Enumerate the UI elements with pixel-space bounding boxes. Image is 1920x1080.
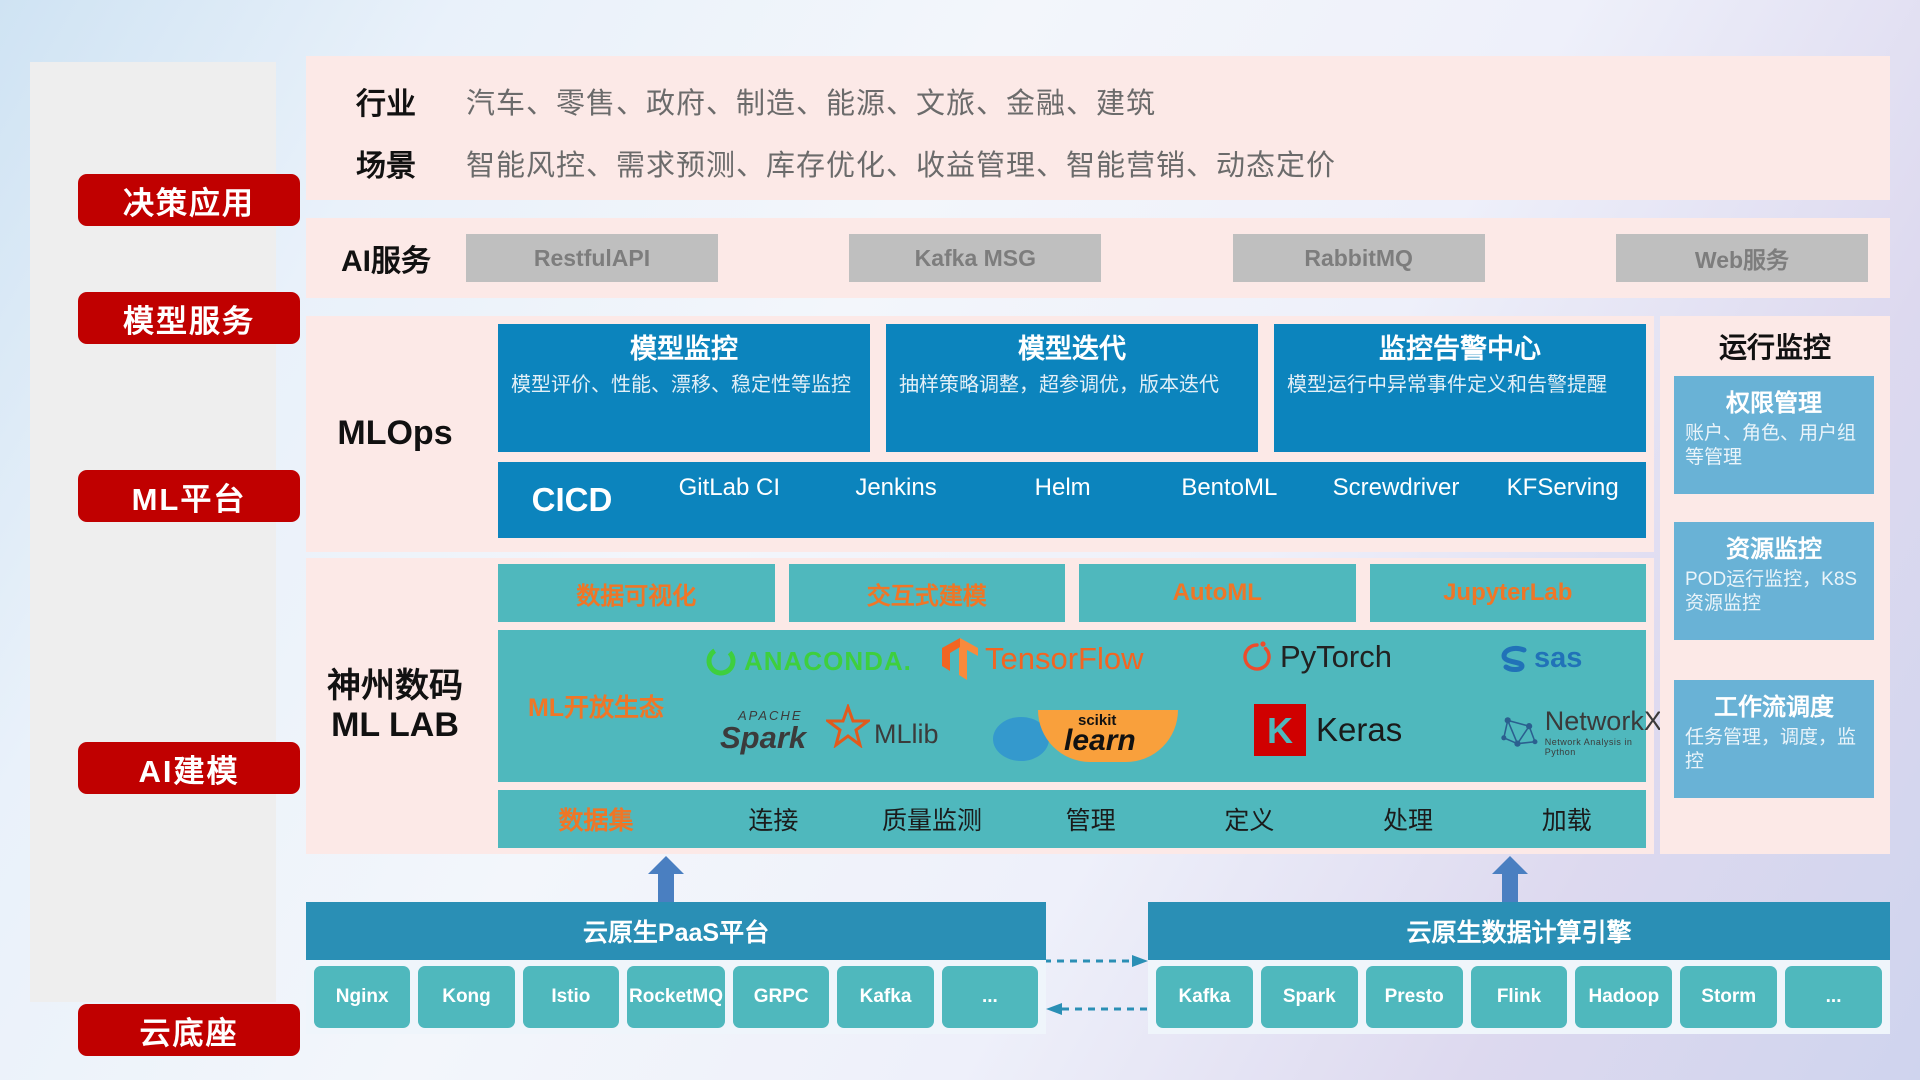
scikit-learn-logo: scikit learn <box>990 708 1188 764</box>
pytorch-mark-icon <box>1240 638 1274 676</box>
pytorch-logo-text: PyTorch <box>1280 639 1392 675</box>
dataset-caption: 数据集 <box>498 801 694 837</box>
dataset-item-list: 连接 质量监测 管理 定义 处理 加载 <box>694 801 1646 837</box>
mlops-card-list: 模型监控 模型评价、性能、漂移、稳定性等监控 模型迭代 抽样策略调整，超参调优，… <box>498 324 1646 452</box>
ml-lab-panel: 神州数码 ML LAB 数据可视化 交互式建模 AutoML JupyterLa… <box>306 558 1654 854</box>
runtime-card-desc: POD运行监控，K8S资源监控 <box>1685 568 1863 617</box>
ai-service-panel: AI服务 RestfulAPI Kafka MSG RabbitMQ Web服务 <box>306 218 1890 298</box>
paas-chip[interactable]: ... <box>942 966 1038 1028</box>
ml-lab-tool[interactable]: AutoML <box>1079 564 1356 622</box>
tensorflow-mark-icon <box>940 636 980 682</box>
networkx-text-group: NetworkX Network Analysis in Python <box>1545 706 1663 757</box>
runtime-monitor-panel: 运行监控 权限管理 账户、角色、用户组等管理 资源监控 POD运行监控，K8S资… <box>1660 316 1890 854</box>
mllib-word: MLlib <box>874 719 939 750</box>
networkx-mark-icon <box>1498 710 1541 754</box>
dataset-item[interactable]: 连接 <box>694 801 853 837</box>
runtime-card-title: 工作流调度 <box>1685 687 1863 722</box>
diagram-canvas: 决策应用 模型服务 ML平台 AI建模 云底座 行业 汽车、零售、政府、制造、能… <box>0 0 1920 1080</box>
mlops-card[interactable]: 模型监控 模型评价、性能、漂移、稳定性等监控 <box>498 324 870 452</box>
spark-mark-icon: APACHE Spark <box>718 706 868 762</box>
mlops-panel: MLOps 模型监控 模型评价、性能、漂移、稳定性等监控 模型迭代 抽样策略调整… <box>306 316 1654 552</box>
runtime-card-desc: 账户、角色、用户组等管理 <box>1685 422 1863 471</box>
keras-logo-text: Keras <box>1316 711 1402 749</box>
data-engine-chip[interactable]: Presto <box>1366 966 1463 1028</box>
data-engine-box: 云原生数据计算引擎 Kafka Spark Presto Flink Hadoo… <box>1148 902 1890 1034</box>
svg-text:K: K <box>1267 710 1293 751</box>
cicd-bar: CICD GitLab CI Jenkins Helm BentoML Scre… <box>498 462 1646 538</box>
paas-chip[interactable]: GRPC <box>733 966 829 1028</box>
mlops-label: MLOps <box>306 316 484 552</box>
paas-platform-box: 云原生PaaS平台 Nginx Kong Istio RocketMQ GRPC… <box>306 902 1046 1034</box>
paas-chip[interactable]: Kafka <box>837 966 933 1028</box>
mlops-card-desc: 抽样策略调整，超参调优，版本迭代 <box>899 372 1245 398</box>
ml-lab-tool-list: 数据可视化 交互式建模 AutoML JupyterLab <box>498 564 1646 622</box>
dataset-item[interactable]: 定义 <box>1170 801 1329 837</box>
data-engine-chip-list: Kafka Spark Presto Flink Hadoop Storm ..… <box>1148 966 1890 1028</box>
cicd-item-list: GitLab CI Jenkins Helm BentoML Screwdriv… <box>646 462 1646 538</box>
runtime-card-desc: 任务管理，调度，监控 <box>1685 726 1863 775</box>
cicd-item[interactable]: BentoML <box>1146 472 1313 504</box>
data-engine-chip[interactable]: Kafka <box>1156 966 1253 1028</box>
tensorflow-logo: TensorFlow <box>940 636 1144 682</box>
industry-row: 行业 汽车、零售、政府、制造、能源、文旅、金融、建筑 <box>306 70 1890 132</box>
ai-service-chip-list: RestfulAPI Kafka MSG RabbitMQ Web服务 <box>466 234 1890 282</box>
ai-service-chip[interactable]: Kafka MSG <box>849 234 1101 282</box>
anaconda-logo-text: ANACONDA. <box>744 646 912 677</box>
spark-star-icon <box>826 704 870 748</box>
ml-ecosystem-caption: ML开放生态 <box>498 688 694 724</box>
rail-tag-decision[interactable]: 决策应用 <box>78 174 300 226</box>
up-arrow-data-engine-icon <box>1490 856 1530 906</box>
anaconda-mark-icon <box>704 644 738 678</box>
rail-tag-ai-modeling[interactable]: AI建模 <box>78 742 300 794</box>
dataset-item[interactable]: 管理 <box>1011 801 1170 837</box>
pytorch-logo: PyTorch <box>1240 638 1392 676</box>
paas-chip[interactable]: RocketMQ <box>627 966 725 1028</box>
runtime-card-title: 资源监控 <box>1685 529 1863 564</box>
scenario-list: 智能风控、需求预测、库存优化、收益管理、智能营销、动态定价 <box>466 142 1336 184</box>
ml-lab-tool[interactable]: JupyterLab <box>1370 564 1647 622</box>
data-engine-chip[interactable]: Flink <box>1471 966 1568 1028</box>
runtime-card-title: 权限管理 <box>1685 383 1863 418</box>
anaconda-logo: ANACONDA. <box>704 644 912 678</box>
rail-tag-model-service[interactable]: 模型服务 <box>78 292 300 344</box>
data-engine-chip[interactable]: Spark <box>1261 966 1358 1028</box>
spark-mllib-logo: APACHE Spark MLlib <box>718 706 939 762</box>
industry-list: 汽车、零售、政府、制造、能源、文旅、金融、建筑 <box>466 80 1156 122</box>
scikit-learn-mark-icon: scikit learn <box>1038 708 1188 764</box>
tensorflow-logo-text: TensorFlow <box>985 641 1144 677</box>
data-engine-title: 云原生数据计算引擎 <box>1148 902 1890 960</box>
cicd-item[interactable]: Screwdriver <box>1313 472 1480 504</box>
paas-chip[interactable]: Nginx <box>314 966 410 1028</box>
data-engine-chip[interactable]: Hadoop <box>1575 966 1672 1028</box>
learn-word: learn <box>1064 724 1136 758</box>
rail-tag-label: 云底座 <box>140 1008 239 1053</box>
industry-scenario-panel: 行业 汽车、零售、政府、制造、能源、文旅、金融、建筑 场景 智能风控、需求预测、… <box>306 56 1890 200</box>
sas-mark-icon <box>1500 644 1532 674</box>
scenario-label: 场景 <box>306 141 466 185</box>
mlops-card[interactable]: 监控告警中心 模型运行中异常事件定义和告警提醒 <box>1274 324 1646 452</box>
ml-lab-tool[interactable]: 数据可视化 <box>498 564 775 622</box>
cicd-label: CICD <box>498 462 646 538</box>
mlops-body: 模型监控 模型评价、性能、漂移、稳定性等监控 模型迭代 抽样策略调整，超参调优，… <box>484 316 1654 552</box>
cicd-item[interactable]: GitLab CI <box>646 472 813 504</box>
scenario-row: 场景 智能风控、需求预测、库存优化、收益管理、智能营销、动态定价 <box>306 132 1890 194</box>
runtime-monitor-card[interactable]: 资源监控 POD运行监控，K8S资源监控 <box>1674 522 1874 640</box>
rail-tag-ml-platform[interactable]: ML平台 <box>78 470 300 522</box>
data-engine-chip[interactable]: ... <box>1785 966 1882 1028</box>
ml-ecosystem-band: ML开放生态 ANACONDA. TensorF <box>498 630 1646 782</box>
ml-lab-tool[interactable]: 交互式建模 <box>789 564 1066 622</box>
mlops-card-desc: 模型评价、性能、漂移、稳定性等监控 <box>511 372 857 398</box>
data-engine-chip[interactable]: Storm <box>1680 966 1777 1028</box>
dashed-arrow-right-icon <box>1044 954 1150 968</box>
paas-chip-list: Nginx Kong Istio RocketMQ GRPC Kafka ... <box>306 966 1046 1028</box>
paas-chip[interactable]: Istio <box>523 966 619 1028</box>
dashed-arrow-left-icon <box>1044 1002 1150 1016</box>
keras-mark-icon: K <box>1254 704 1306 756</box>
cicd-item[interactable]: Jenkins <box>813 472 980 504</box>
rail-tag-label: 模型服务 <box>123 296 255 341</box>
rail-tag-label: ML平台 <box>132 474 247 519</box>
left-rail: 决策应用 模型服务 ML平台 AI建模 云底座 <box>30 62 276 1002</box>
sas-logo-text: sas <box>1534 642 1582 675</box>
networkx-logo-text: NetworkX <box>1545 706 1663 737</box>
ai-service-chip[interactable]: Web服务 <box>1616 234 1868 282</box>
runtime-monitor-card[interactable]: 权限管理 账户、角色、用户组等管理 <box>1674 376 1874 494</box>
dataset-item[interactable]: 处理 <box>1329 801 1488 837</box>
sas-logo: sas <box>1500 642 1582 675</box>
keras-logo: K Keras <box>1254 704 1402 756</box>
ai-service-chip[interactable]: RabbitMQ <box>1233 234 1485 282</box>
runtime-monitor-title: 运行监控 <box>1660 326 1890 366</box>
rail-tag-cloud-base[interactable]: 云底座 <box>78 1004 300 1056</box>
ml-lab-label-line1: 神州数码 <box>327 667 463 706</box>
mlops-card[interactable]: 模型迭代 抽样策略调整，超参调优，版本迭代 <box>886 324 1258 452</box>
cicd-item[interactable]: Helm <box>979 472 1146 504</box>
ml-lab-label: 神州数码 ML LAB <box>306 558 484 854</box>
dataset-item[interactable]: 加载 <box>1487 801 1646 837</box>
rail-tag-label: 决策应用 <box>123 178 255 223</box>
cicd-item[interactable]: KFServing <box>1479 472 1646 504</box>
ml-lab-body: 数据可视化 交互式建模 AutoML JupyterLab ML开放生态 ANA… <box>484 558 1654 854</box>
dataset-band: 数据集 连接 质量监测 管理 定义 处理 加载 <box>498 790 1646 848</box>
ai-service-label: AI服务 <box>306 236 466 280</box>
spark-word: Spark <box>720 720 806 756</box>
paas-chip[interactable]: Kong <box>418 966 514 1028</box>
ai-service-chip[interactable]: RestfulAPI <box>466 234 718 282</box>
ml-lab-label-line2: ML LAB <box>327 706 463 745</box>
rail-tag-label: AI建模 <box>139 746 240 791</box>
mlops-card-title: 模型监控 <box>511 333 857 367</box>
mlops-card-desc: 模型运行中异常事件定义和告警提醒 <box>1287 372 1633 398</box>
mlops-card-title: 模型迭代 <box>899 333 1245 367</box>
mlops-card-title: 监控告警中心 <box>1287 333 1633 367</box>
networkx-subtitle: Network Analysis in Python <box>1545 737 1663 757</box>
runtime-monitor-card[interactable]: 工作流调度 任务管理，调度，监控 <box>1674 680 1874 798</box>
up-arrow-paas-icon <box>646 856 686 906</box>
paas-platform-title: 云原生PaaS平台 <box>306 902 1046 960</box>
dataset-item[interactable]: 质量监测 <box>853 801 1012 837</box>
industry-label: 行业 <box>306 79 466 123</box>
networkx-logo: NetworkX Network Analysis in Python <box>1498 706 1663 757</box>
ml-ecosystem-logo-area: ANACONDA. TensorFlow <box>694 630 1646 782</box>
